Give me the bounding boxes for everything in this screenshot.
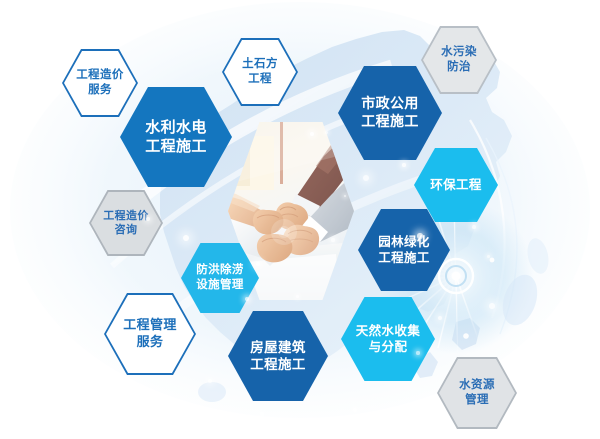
sparkle-dot [438, 316, 442, 320]
hex-label-line: 服务 [88, 83, 112, 98]
hex-label-line: 土石方 [242, 57, 278, 72]
hex-label-line: 防洪除涝 [196, 263, 244, 278]
hex-engineering-management-service[interactable]: 工程管理 服务 [104, 293, 196, 375]
hex-label-line: 服务 [137, 334, 164, 351]
hex-label-line: 工程造价 [76, 68, 124, 83]
hex-label-line: 工程管理 [123, 317, 177, 334]
hex-water-resources-management[interactable]: 水资源 管理 [437, 357, 517, 429]
sparkle-dot [208, 379, 213, 384]
hex-label: 工程造价 服务 [62, 49, 138, 117]
hex-label-line: 工程施工 [250, 356, 306, 373]
hex-natural-water-collection-distribution[interactable]: 天然水收集 与分配 [341, 297, 435, 381]
sparkle-dot [402, 163, 406, 167]
hex-label-line: 房屋建筑 [250, 339, 306, 356]
sparkle-dot [487, 255, 490, 258]
sparkle-dot [363, 175, 369, 181]
sparkle-dot [260, 412, 263, 415]
hex-label-line: 设施管理 [196, 278, 244, 293]
hex-label: 工程管理 服务 [104, 293, 196, 375]
hex-engineering-cost-consulting[interactable]: 工程造价 咨询 [89, 190, 163, 256]
hex-label-line: 工程 [248, 72, 272, 87]
hex-earthwork-engineering[interactable]: 土石方 工程 [222, 38, 298, 106]
hex-label: 水资源 管理 [437, 357, 517, 429]
hex-engineering-cost-service[interactable]: 工程造价 服务 [62, 49, 138, 117]
hex-label-line: 工程施工 [378, 250, 430, 266]
hex-label-line: 环保工程 [430, 177, 482, 193]
hex-water-pollution-control[interactable]: 水污染 防治 [421, 26, 497, 94]
hex-label-line: 水资源 [459, 378, 495, 393]
hex-label-line: 水污染 [441, 45, 477, 60]
hex-label: 土石方 工程 [222, 38, 298, 106]
hex-label-line: 管理 [465, 393, 489, 408]
hex-label-line: 防治 [447, 60, 471, 75]
hex-label-line: 与分配 [369, 339, 408, 355]
hex-label-line: 水利水电 [145, 118, 207, 137]
hex-label-line: 市政公用 [361, 95, 419, 113]
hex-label-line: 园林绿化 [378, 234, 430, 250]
hex-label: 工程造价 咨询 [89, 190, 163, 256]
hex-label: 水污染 防治 [421, 26, 497, 94]
hex-label-line: 咨询 [115, 223, 138, 237]
sparkle-dot [183, 235, 189, 241]
sparkle-dot [489, 303, 495, 309]
hex-label-line: 工程施工 [361, 113, 419, 131]
hex-label-line: 天然水收集 [356, 323, 421, 339]
hex-label-line: 工程造价 [103, 209, 149, 223]
sparkle-dot [472, 225, 476, 229]
sparkle-dot [353, 408, 357, 412]
infographic-canvas: 工程造价 服务 土石方 工程 水污染 防治 市政公用 工程施工 水利水电 工程施… [0, 0, 600, 439]
hex-label-line: 工程施工 [145, 137, 207, 156]
hex-housing-building-construction[interactable]: 房屋建筑 工程施工 [228, 311, 328, 401]
